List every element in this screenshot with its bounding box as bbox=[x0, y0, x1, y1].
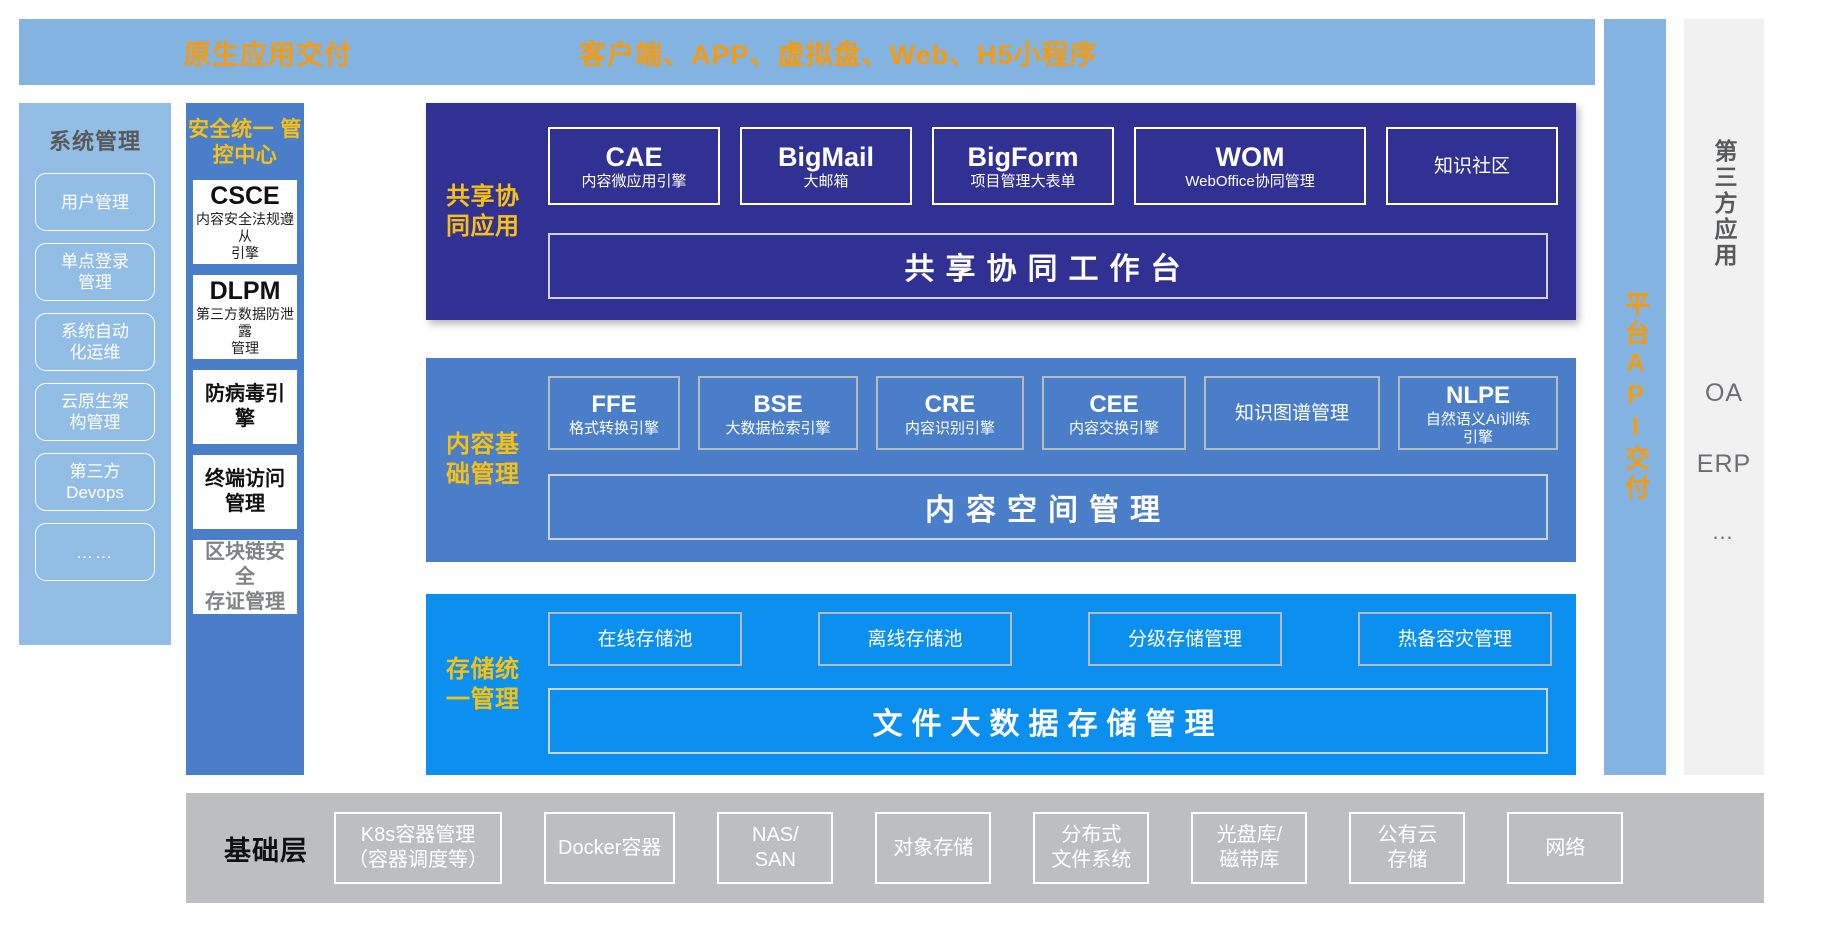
sys-item-sso-management[interactable]: 单点登录 管理 bbox=[35, 243, 155, 301]
security-item-dlpm[interactable]: DLPM 第三方数据防泄露 管理 bbox=[193, 275, 297, 359]
system-management-title: 系统管理 bbox=[49, 124, 141, 156]
security-item-dlpm-abbr: DLPM bbox=[210, 277, 281, 306]
sys-item-cloud-native-arch[interactable]: 云原生架 构管理 bbox=[35, 383, 155, 441]
content-foundation-cards: FFE 格式转换引擎 BSE 大数据检索引擎 CRE 内容识别引擎 CEE 内容… bbox=[548, 376, 1558, 450]
security-item-blockchain-evidence-label: 区块链安全 存证管理 bbox=[196, 540, 294, 615]
security-item-csce-desc: 内容安全法规遵从 引擎 bbox=[196, 211, 294, 262]
card-online-storage-pool[interactable]: 在线存储池 bbox=[548, 612, 742, 666]
card-cae[interactable]: CAE 内容微应用引擎 bbox=[548, 127, 720, 205]
base-item-optical-tape-library[interactable]: 光盘库/ 磁带库 bbox=[1191, 812, 1307, 884]
base-layer-items: K8s容器管理 （容器调度等） Docker容器 NAS/ SAN 对象存储 分… bbox=[334, 812, 1623, 884]
card-tiered-storage-management-label: 分级存储管理 bbox=[1128, 628, 1242, 651]
card-bigmail-abbr: BigMail bbox=[778, 142, 874, 173]
card-ffe-desc: 格式转换引擎 bbox=[569, 420, 659, 438]
sys-item-user-management[interactable]: 用户管理 bbox=[35, 173, 155, 231]
card-cee-desc: 内容交换引擎 bbox=[1069, 420, 1159, 438]
security-item-dlpm-desc: 第三方数据防泄露 管理 bbox=[196, 306, 294, 357]
base-item-network[interactable]: 网络 bbox=[1507, 812, 1623, 884]
base-layer-title: 基础层 bbox=[224, 829, 308, 868]
card-knowledge-community-label: 知识社区 bbox=[1434, 155, 1510, 178]
card-ffe[interactable]: FFE 格式转换引擎 bbox=[548, 376, 680, 450]
security-control-center-column: 安全统一 管控中心 CSCE 内容安全法规遵从 引擎 DLPM 第三方数据防泄露… bbox=[186, 103, 304, 775]
base-item-object-storage[interactable]: 对象存储 bbox=[875, 812, 991, 884]
third-party-item-oa[interactable]: OA bbox=[1705, 379, 1743, 408]
card-bigform-abbr: BigForm bbox=[968, 142, 1079, 173]
card-online-storage-pool-label: 在线存储池 bbox=[597, 628, 692, 651]
layer-storage-management: 存储统 一管理 在线存储池 离线存储池 分级存储管理 热备容灾管理 文件大数据存… bbox=[426, 594, 1576, 775]
layer-storage-management-label: 存储统 一管理 bbox=[446, 655, 524, 715]
card-cae-abbr: CAE bbox=[605, 142, 662, 173]
file-bigdata-storage-bar[interactable]: 文件大数据存储管理 bbox=[548, 688, 1548, 754]
base-infrastructure-layer: 基础层 K8s容器管理 （容器调度等） Docker容器 NAS/ SAN 对象… bbox=[186, 793, 1764, 903]
sys-item-automation-ops[interactable]: 系统自动 化运维 bbox=[35, 313, 155, 371]
card-nlpe[interactable]: NLPE 自然语义AI训练 引擎 bbox=[1398, 376, 1558, 450]
card-bse-abbr: BSE bbox=[753, 389, 802, 420]
card-knowledge-graph-label: 知识图谱管理 bbox=[1235, 402, 1349, 425]
sys-item-third-party-devops[interactable]: 第三方 Devops bbox=[35, 453, 155, 511]
top-banner-left-text: 原生应用交付 bbox=[184, 33, 352, 72]
security-item-endpoint-access-label: 终端访问 管理 bbox=[205, 467, 285, 517]
base-item-docker[interactable]: Docker容器 bbox=[544, 812, 675, 884]
layer-content-foundation: 内容基 础管理 FFE 格式转换引擎 BSE 大数据检索引擎 CRE 内容识别引… bbox=[426, 358, 1576, 562]
top-delivery-banner: 原生应用交付 客户端、APP、虚拟盘、Web、H5小程序 bbox=[19, 19, 1595, 85]
card-knowledge-graph[interactable]: 知识图谱管理 bbox=[1204, 376, 1380, 450]
card-cee[interactable]: CEE 内容交换引擎 bbox=[1042, 376, 1186, 450]
shared-collaboration-cards: CAE 内容微应用引擎 BigMail 大邮箱 BigForm 项目管理大表单 … bbox=[548, 127, 1558, 205]
base-item-k8s[interactable]: K8s容器管理 （容器调度等） bbox=[334, 812, 502, 884]
card-cee-abbr: CEE bbox=[1089, 389, 1138, 420]
security-center-title: 安全统一 管控中心 bbox=[186, 117, 304, 169]
security-item-csce[interactable]: CSCE 内容安全法规遵从 引擎 bbox=[193, 180, 297, 264]
card-bse-desc: 大数据检索引擎 bbox=[725, 420, 830, 438]
layer-shared-collaboration: 共享协 同应用 CAE 内容微应用引擎 BigMail 大邮箱 BigForm … bbox=[426, 103, 1576, 320]
card-offline-storage-pool[interactable]: 离线存储池 bbox=[818, 612, 1012, 666]
card-cre-abbr: CRE bbox=[925, 389, 976, 420]
platform-api-delivery-text: 平台API交付 bbox=[1616, 291, 1655, 503]
card-nlpe-abbr: NLPE bbox=[1446, 380, 1510, 411]
card-bigform-desc: 项目管理大表单 bbox=[970, 173, 1075, 191]
third-party-item-erp[interactable]: ERP bbox=[1697, 450, 1751, 479]
third-party-applications-column: 第三方应用 OA ERP … bbox=[1684, 19, 1764, 775]
security-item-antivirus-engine-label: 防病毒引擎 bbox=[196, 382, 294, 432]
card-ffe-abbr: FFE bbox=[591, 389, 636, 420]
card-tiered-storage-management[interactable]: 分级存储管理 bbox=[1088, 612, 1282, 666]
security-item-blockchain-evidence[interactable]: 区块链安全 存证管理 bbox=[193, 540, 297, 614]
base-item-distributed-fs[interactable]: 分布式 文件系统 bbox=[1033, 812, 1149, 884]
card-offline-storage-pool-label: 离线存储池 bbox=[867, 628, 962, 651]
layer-content-foundation-label: 内容基 础管理 bbox=[446, 430, 524, 490]
card-cae-desc: 内容微应用引擎 bbox=[581, 173, 686, 191]
layer-shared-collaboration-label: 共享协 同应用 bbox=[446, 182, 524, 242]
card-wom-abbr: WOM bbox=[1216, 142, 1285, 173]
card-cre[interactable]: CRE 内容识别引擎 bbox=[876, 376, 1024, 450]
security-item-csce-abbr: CSCE bbox=[210, 182, 279, 211]
shared-collaboration-workbench-bar[interactable]: 共享协同工作台 bbox=[548, 233, 1548, 299]
top-banner-right-text: 客户端、APP、虚拟盘、Web、H5小程序 bbox=[579, 33, 1098, 72]
card-hot-standby-dr-management[interactable]: 热备容灾管理 bbox=[1358, 612, 1552, 666]
card-bigmail-desc: 大邮箱 bbox=[803, 173, 848, 191]
card-nlpe-desc: 自然语义AI训练 引擎 bbox=[1426, 411, 1530, 447]
base-item-public-cloud-storage[interactable]: 公有云 存储 bbox=[1349, 812, 1465, 884]
platform-api-delivery-column: 平台API交付 bbox=[1604, 19, 1666, 775]
security-item-endpoint-access[interactable]: 终端访问 管理 bbox=[193, 455, 297, 529]
card-bigform[interactable]: BigForm 项目管理大表单 bbox=[932, 127, 1114, 205]
card-hot-standby-dr-management-label: 热备容灾管理 bbox=[1398, 628, 1512, 651]
content-space-management-bar[interactable]: 内容空间管理 bbox=[548, 474, 1548, 540]
architecture-diagram: 原生应用交付 客户端、APP、虚拟盘、Web、H5小程序 系统管理 用户管理 单… bbox=[0, 0, 1823, 928]
card-bse[interactable]: BSE 大数据检索引擎 bbox=[698, 376, 858, 450]
storage-cards: 在线存储池 离线存储池 分级存储管理 热备容灾管理 bbox=[548, 612, 1552, 666]
security-item-antivirus-engine[interactable]: 防病毒引擎 bbox=[193, 370, 297, 444]
card-knowledge-community[interactable]: 知识社区 bbox=[1386, 127, 1558, 205]
card-wom[interactable]: WOM WebOffice协同管理 bbox=[1134, 127, 1366, 205]
system-management-column: 系统管理 用户管理 单点登录 管理 系统自动 化运维 云原生架 构管理 第三方 … bbox=[19, 103, 171, 645]
card-wom-desc: WebOffice协同管理 bbox=[1185, 173, 1314, 191]
sys-item-more[interactable]: …… bbox=[35, 523, 155, 581]
third-party-item-more: … bbox=[1712, 519, 1737, 545]
third-party-title: 第三方应用 bbox=[1709, 139, 1739, 269]
card-cre-desc: 内容识别引擎 bbox=[905, 420, 995, 438]
base-item-nas-san[interactable]: NAS/ SAN bbox=[717, 812, 833, 884]
card-bigmail[interactable]: BigMail 大邮箱 bbox=[740, 127, 912, 205]
